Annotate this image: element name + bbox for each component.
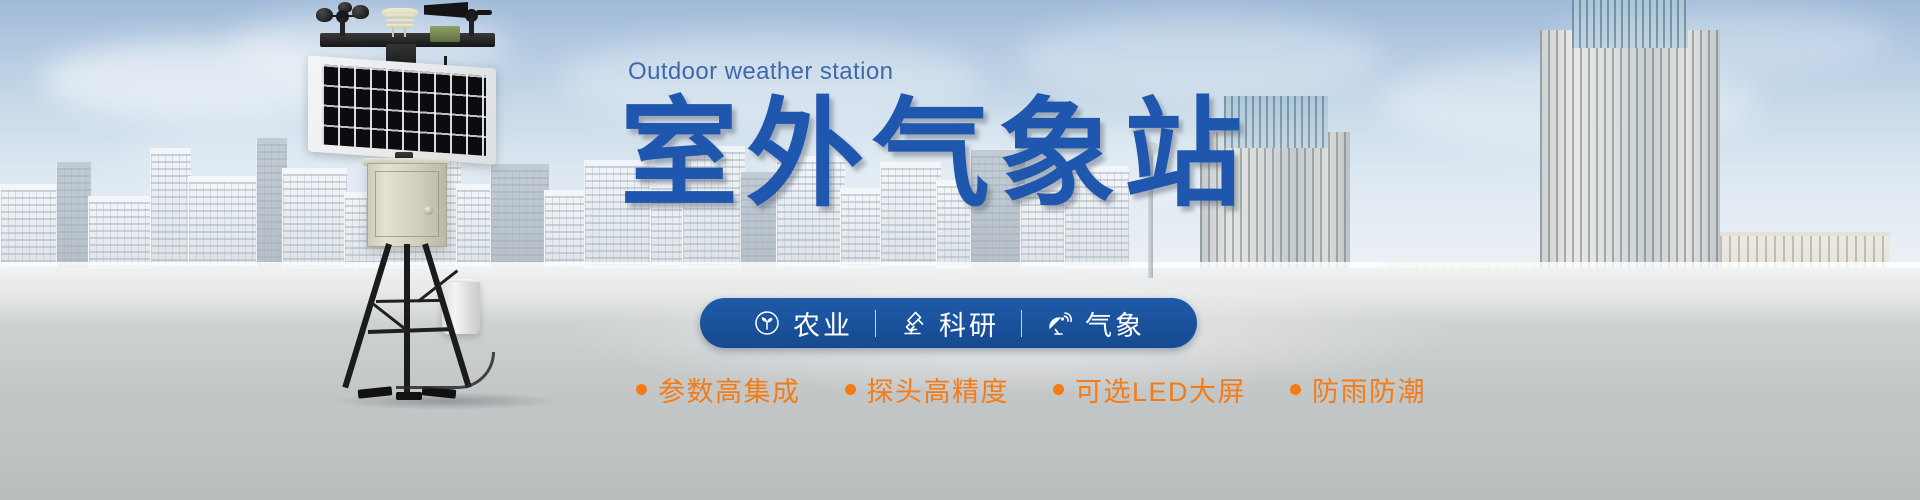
anemometer-cup: [352, 5, 369, 19]
bullet-dot-icon: [1053, 384, 1064, 395]
wind-vane-pole: [469, 17, 474, 36]
badge-label-agriculture: 农业: [793, 304, 853, 343]
feature-label: 探头高精度: [867, 370, 1010, 409]
radiation-shield-leg: [392, 27, 394, 37]
feature-item: 可选LED大屏: [1053, 370, 1246, 409]
feature-item: 参数高集成: [636, 370, 801, 409]
eyebrow-text: Outdoor weather station: [628, 58, 1520, 86]
bullet-dot-icon: [636, 384, 647, 395]
badge-label-research: 科研: [939, 304, 999, 343]
feature-item: 探头高精度: [845, 370, 1010, 409]
bullet-dot-icon: [1290, 384, 1301, 395]
badge-item-research[interactable]: 科研: [876, 304, 1021, 343]
application-badge: 农业 科研: [700, 298, 1197, 348]
control-cabinet: [367, 163, 447, 247]
feature-item: 防雨防潮: [1290, 370, 1426, 409]
cabinet-door: [375, 171, 439, 237]
badge-label-meteorology: 气象: [1085, 304, 1145, 343]
anemometer-pole: [340, 18, 345, 36]
solar-panel-cells: [322, 64, 486, 155]
solar-panel: [308, 55, 496, 164]
wind-vane-tail: [424, 2, 468, 18]
data-logger-box: [430, 26, 460, 42]
radiation-shield-plate: [386, 19, 414, 23]
skyscraper-right-crown: [1572, 0, 1688, 48]
feature-list: 参数高集成 探头高精度 可选LED大屏 防雨防潮: [636, 370, 1470, 409]
feature-label: 可选LED大屏: [1075, 370, 1246, 409]
ground-cable: [396, 352, 495, 389]
tripod-leg: [342, 243, 392, 388]
promo-banner: Outdoor weather station 室外气象站 农业: [0, 0, 1920, 500]
radiation-shield-plate: [386, 24, 414, 28]
microscope-icon: [898, 308, 928, 338]
wind-vane-nose: [476, 10, 492, 15]
badge-item-meteorology[interactable]: 气象: [1022, 304, 1167, 343]
bullet-dot-icon: [845, 384, 856, 395]
anemometer-cup: [316, 8, 333, 22]
weather-station-product: [300, 0, 570, 420]
tripod-foot: [396, 392, 422, 400]
radiation-shield-plate: [386, 14, 414, 18]
satellite-dish-icon: [1044, 308, 1074, 338]
feature-label: 防雨防潮: [1312, 370, 1426, 409]
sprout-circle-icon: [752, 308, 782, 338]
tripod-brace: [376, 299, 442, 303]
badge-item-agriculture[interactable]: 农业: [730, 304, 875, 343]
cabinet-lock: [424, 206, 433, 215]
feature-label: 参数高集成: [658, 370, 801, 409]
banner-copy: Outdoor weather station 室外气象站: [620, 58, 1520, 217]
page-title: 室外气象站: [620, 92, 1520, 217]
radiation-shield-leg: [404, 27, 406, 37]
